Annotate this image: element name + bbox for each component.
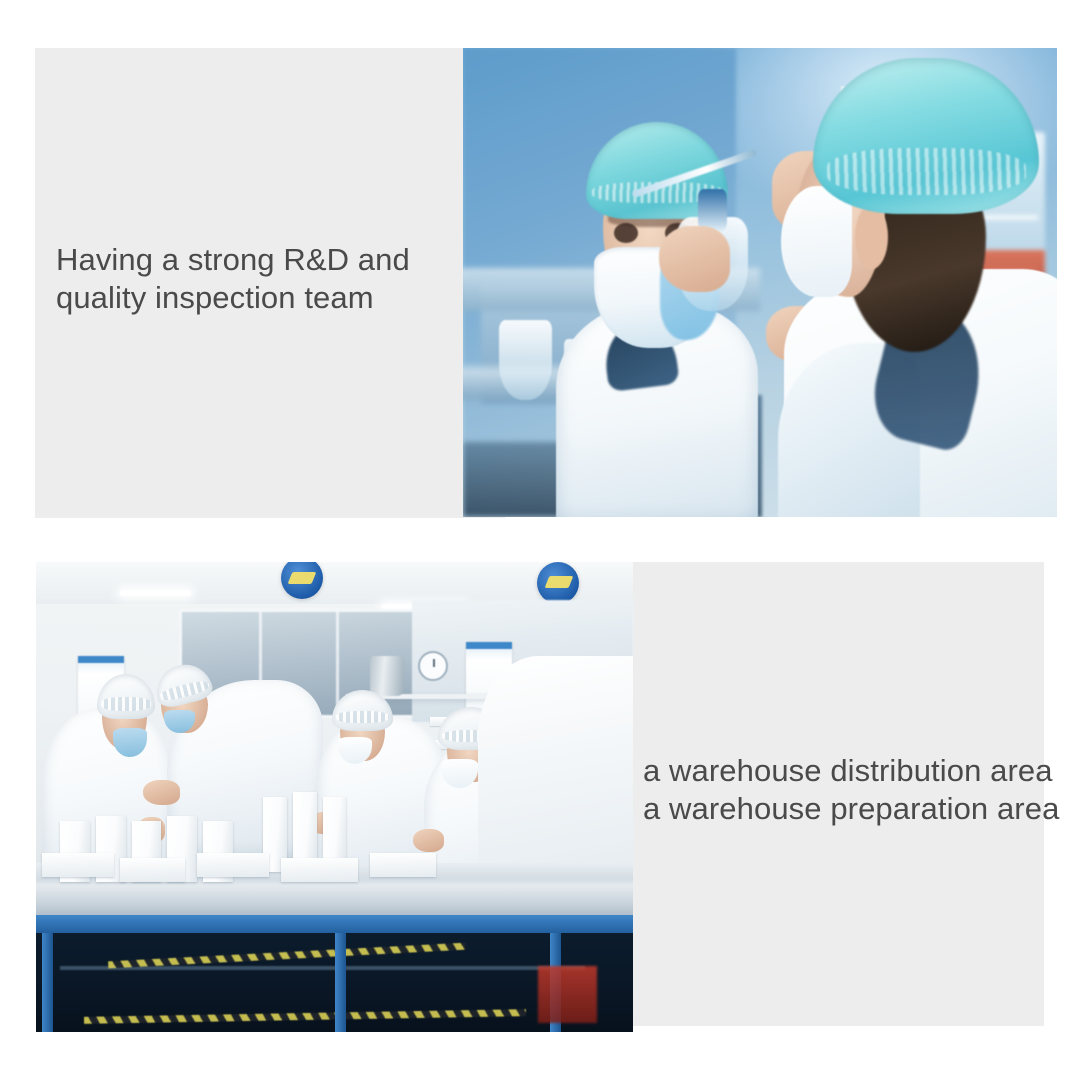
- red-crate: [538, 966, 598, 1022]
- bottom-caption-line-2: a warehouse preparation area: [643, 790, 1059, 828]
- top-caption: Having a strong R&D and quality inspecti…: [56, 241, 410, 317]
- bottom-caption-line-1: a warehouse distribution area: [643, 752, 1059, 790]
- bottom-caption: a warehouse distribution area a warehous…: [643, 752, 1059, 828]
- top-caption-line-1: Having a strong R&D and: [56, 241, 410, 279]
- carton-flat-5: [370, 853, 436, 877]
- table-blue-frame: [36, 915, 633, 934]
- warehouse-packing-photo: [36, 562, 633, 1032]
- carton-flat-3: [197, 853, 269, 877]
- table-leg-center: [335, 933, 346, 1032]
- steel-pot-1: [370, 656, 404, 696]
- lab-hand-lower: [659, 226, 730, 292]
- worker-bending-hand: [143, 780, 180, 805]
- lab-technician-front: [534, 114, 807, 517]
- lab-flask-neck: [698, 189, 728, 231]
- carton-flat-4: [281, 858, 359, 882]
- top-caption-line-2: quality inspection team: [56, 279, 410, 317]
- lab-eye-left: [614, 223, 639, 243]
- lab-hairnet-cap-profile: [813, 58, 1039, 214]
- lab-ear: [855, 205, 888, 269]
- lab-quality-inspection-photo: [463, 48, 1057, 517]
- worker-right-hand: [413, 829, 445, 852]
- ceiling-lamp-1: [120, 590, 192, 596]
- carton-flat-2: [120, 858, 186, 882]
- carton-flat-1: [42, 853, 114, 877]
- table-leg-left: [42, 933, 53, 1032]
- lab-technician-profile: [772, 67, 1057, 517]
- lab-face-mask-profile: [781, 186, 852, 296]
- promo-collage: Having a strong R&D and quality inspecti…: [0, 0, 1080, 1080]
